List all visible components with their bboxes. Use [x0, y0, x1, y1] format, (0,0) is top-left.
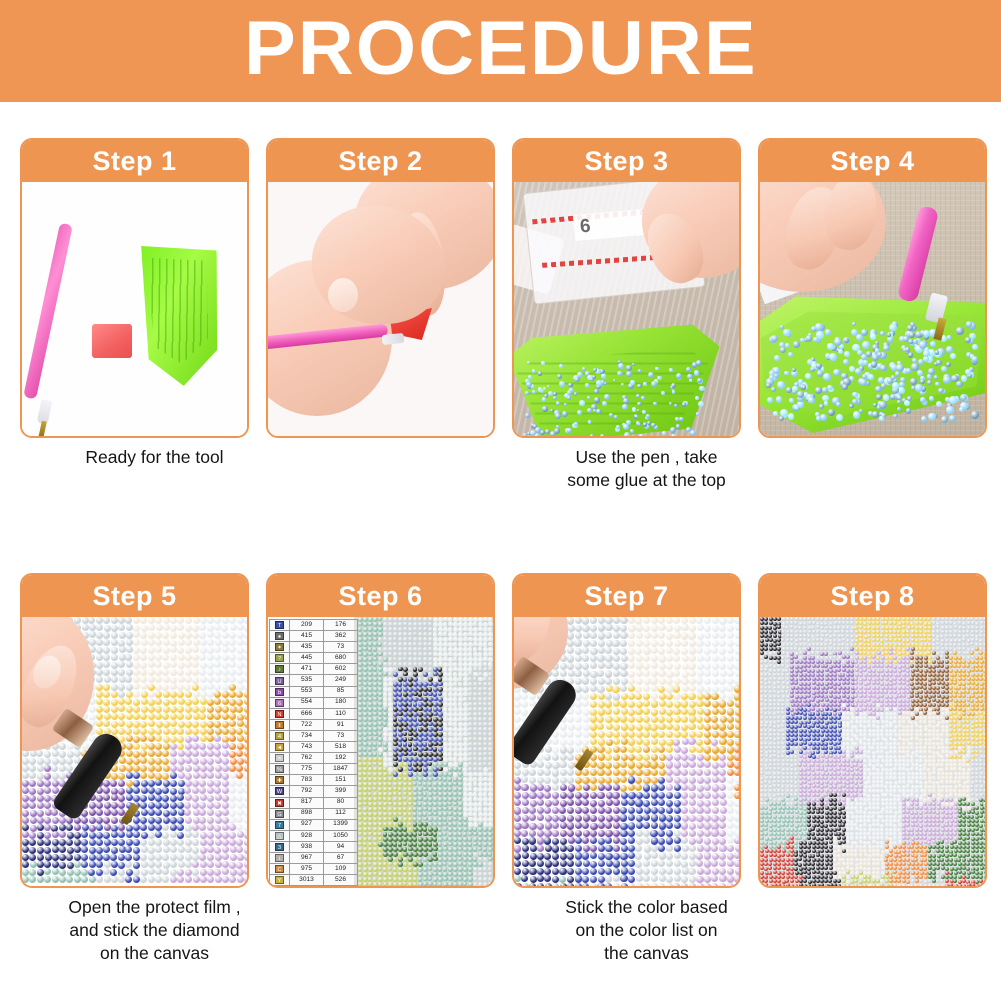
canvas-bead — [81, 854, 88, 861]
canvas-bead — [575, 807, 582, 814]
canvas-bead — [635, 754, 642, 761]
canvas-bead — [111, 713, 118, 720]
canvas-bead — [658, 838, 665, 845]
canvas-bead — [906, 634, 910, 638]
canvas-bead — [244, 632, 247, 639]
canvas-bead — [170, 713, 177, 720]
canvas-bead — [636, 670, 643, 677]
canvas-bead — [214, 743, 221, 750]
step-card-7[interactable]: Step 7 — [512, 573, 741, 888]
canvas-bead — [923, 634, 927, 638]
canvas-bead — [682, 671, 689, 678]
canvas-bead — [207, 824, 214, 831]
canvas-bead — [636, 868, 643, 875]
canvas-bead — [373, 787, 378, 792]
canvas-bead — [126, 765, 133, 772]
legend-row: ♪471602 — [270, 664, 358, 675]
diamond-bead — [785, 343, 790, 348]
canvas-bead — [207, 750, 214, 757]
canvas-bead — [463, 737, 468, 742]
canvas-bead — [177, 832, 184, 839]
canvas-bead — [140, 713, 147, 720]
legend-symbol-cell: % — [270, 764, 290, 775]
canvas-bead — [104, 713, 111, 720]
step-photo-5 — [22, 617, 247, 886]
canvas-bead — [133, 669, 140, 676]
canvas-bead — [177, 736, 184, 743]
canvas-bead — [889, 621, 893, 625]
canvas-bead — [222, 846, 229, 853]
canvas-bead — [111, 662, 118, 669]
canvas-bead — [696, 677, 703, 684]
canvas-bead — [103, 787, 110, 794]
canvas-bead — [635, 693, 642, 700]
canvas-bead — [29, 765, 36, 772]
canvas-bead — [363, 802, 368, 807]
canvas-bead — [529, 868, 536, 875]
canvas-bead — [983, 634, 985, 638]
canvas-bead — [59, 862, 66, 869]
canvas-bead — [605, 845, 612, 852]
canvas-bead — [696, 769, 703, 776]
canvas-bead — [214, 735, 221, 742]
canvas-bead — [884, 621, 888, 625]
step-caption-1: Ready for the tool — [32, 446, 277, 469]
legend-symbol-chip: T — [275, 621, 284, 629]
canvas-bead — [803, 630, 807, 634]
canvas-bead — [666, 746, 673, 753]
canvas-bead — [473, 617, 478, 622]
canvas-bead — [636, 678, 643, 685]
step-card-2[interactable]: Step 2 — [266, 138, 495, 438]
diamond-bead — [855, 368, 862, 375]
canvas-bead — [704, 738, 711, 745]
canvas-bead — [734, 617, 739, 624]
canvas-bead — [478, 872, 483, 877]
diamond-bead — [928, 413, 935, 420]
canvas-bead — [659, 868, 666, 875]
canvas-bead — [177, 617, 184, 624]
canvas-bead — [598, 693, 605, 700]
canvas-bead — [644, 845, 651, 852]
canvas-bead — [207, 676, 214, 683]
canvas-bead — [674, 716, 681, 723]
canvas-bead — [643, 625, 650, 632]
canvas-bead — [820, 617, 824, 621]
canvas-bead — [613, 670, 620, 677]
canvas-bead — [67, 869, 74, 876]
canvas-bead — [222, 824, 229, 831]
canvas-bead — [605, 754, 612, 761]
legend-row: 393894 — [270, 841, 358, 852]
diamond-bead — [941, 366, 947, 372]
canvas-bead — [636, 815, 643, 822]
canvas-bead — [545, 800, 552, 807]
canvas-bead — [67, 847, 74, 854]
canvas-bead — [514, 762, 521, 769]
diamond-bead — [860, 379, 867, 386]
canvas-bead — [598, 662, 605, 669]
canvas-bead — [52, 868, 59, 875]
canvas-bead — [237, 684, 244, 691]
canvas-bead — [711, 860, 718, 867]
canvas-bead — [658, 716, 665, 723]
diamond-bead — [643, 422, 647, 426]
canvas-bead — [207, 869, 214, 876]
canvas-bead — [162, 832, 169, 839]
canvas-bead — [644, 853, 651, 860]
canvas-bead — [712, 617, 719, 624]
diamond-bead — [838, 349, 843, 354]
canvas-bead — [388, 637, 393, 642]
canvas-bead — [689, 860, 696, 867]
canvas-bead — [560, 792, 567, 799]
canvas-bead — [373, 812, 378, 817]
canvas-bead — [689, 876, 696, 883]
canvas-bead — [651, 868, 658, 875]
canvas-bead — [413, 852, 418, 857]
canvas-bead — [636, 662, 643, 669]
canvas-bead — [704, 731, 711, 738]
canvas-bead — [483, 877, 488, 882]
step-card-8[interactable]: Step 8 — [758, 573, 987, 888]
canvas-bead — [383, 882, 388, 886]
canvas-bead — [368, 662, 373, 667]
diamond-bead — [893, 414, 897, 418]
canvas-bead — [448, 642, 453, 647]
canvas-bead — [448, 787, 453, 792]
canvas-bead — [582, 663, 589, 670]
canvas-bead — [863, 617, 867, 621]
canvas-bead — [393, 757, 398, 762]
diamond-bead — [836, 414, 843, 421]
canvas-bead — [126, 721, 133, 728]
canvas-bead — [697, 822, 704, 829]
canvas-bead — [735, 723, 739, 730]
canvas-bead — [133, 758, 140, 765]
canvas-bead — [44, 751, 51, 758]
canvas-bead — [696, 640, 703, 647]
canvas-bead — [620, 853, 627, 860]
canvas-bead — [192, 758, 199, 765]
canvas-bead — [244, 684, 247, 691]
canvas-bead — [125, 654, 132, 661]
canvas-bead — [244, 868, 247, 875]
canvas-bead — [413, 722, 418, 727]
canvas-bead — [215, 706, 222, 713]
canvas-bead — [388, 767, 393, 772]
legend-count-cell: 94 — [324, 841, 358, 852]
canvas-bead — [966, 634, 970, 638]
legend-symbol-chip: 3 — [275, 843, 284, 851]
canvas-bead — [803, 622, 807, 626]
canvas-bead — [230, 758, 237, 765]
canvas-bead — [363, 617, 368, 622]
legend-count-cell: 1050 — [324, 830, 358, 841]
canvas-bead — [170, 661, 177, 668]
canvas-bead — [133, 683, 140, 690]
canvas-bead — [620, 814, 627, 821]
legend-code-cell: 927 — [290, 819, 324, 830]
canvas-bead — [215, 772, 222, 779]
canvas-bead — [463, 697, 468, 702]
canvas-bead — [368, 862, 373, 867]
canvas-bead — [514, 792, 521, 799]
canvas-bead — [635, 769, 642, 776]
canvas-bead — [103, 854, 110, 861]
canvas-bead — [448, 652, 453, 657]
canvas-bead — [148, 676, 155, 683]
canvas-bead — [468, 652, 473, 657]
canvas-bead — [552, 799, 559, 806]
diamond-bead — [815, 323, 823, 331]
canvas-bead — [673, 632, 680, 639]
canvas-bead — [207, 706, 214, 713]
canvas-bead — [575, 860, 582, 867]
canvas-bead — [544, 785, 551, 792]
canvas-bead — [373, 867, 378, 872]
canvas-bead — [200, 772, 207, 779]
diamond-bead — [636, 394, 640, 398]
diamond-bead — [601, 373, 606, 378]
legend-symbol-chip: W — [275, 787, 284, 795]
canvas-bead — [488, 682, 493, 687]
legend-and-canvas: T209176●415362✶43573?445680♪471602U53524… — [268, 617, 493, 886]
canvas-bead — [200, 721, 207, 728]
canvas-bead — [681, 792, 688, 799]
step-card-6[interactable]: Step 6 T209176●415362✶43573?445680♪47160… — [266, 573, 495, 888]
canvas-bead — [207, 713, 214, 720]
canvas-bead — [207, 802, 214, 809]
canvas-bead — [199, 802, 206, 809]
canvas-bead — [82, 824, 89, 831]
canvas-bead — [605, 769, 612, 776]
canvas-bead — [52, 750, 59, 757]
canvas-bead — [378, 722, 383, 727]
canvas-bead — [590, 617, 597, 624]
step-label-1: Step 1 — [92, 148, 176, 175]
canvas-bead — [658, 799, 665, 806]
canvas-bead — [453, 822, 458, 827]
canvas-bead — [237, 677, 244, 684]
canvas-bead — [651, 822, 658, 829]
canvas-bead — [163, 647, 170, 654]
diamond-bead — [525, 413, 530, 418]
canvas-bead — [207, 795, 214, 802]
diamond-bead — [825, 329, 831, 335]
canvas-bead — [681, 747, 688, 754]
canvas-bead — [613, 837, 620, 844]
canvas-bead — [89, 706, 96, 713]
canvas-bead — [162, 632, 169, 639]
canvas-bead — [140, 802, 147, 809]
canvas-bead — [598, 876, 605, 883]
diamond-bead — [567, 390, 572, 395]
canvas-bead — [52, 854, 59, 861]
canvas-bead — [575, 663, 582, 670]
canvas-bead — [177, 647, 184, 654]
canvas-bead — [148, 839, 155, 846]
canvas-bead — [590, 807, 597, 814]
canvas-bead — [483, 692, 488, 697]
canvas-bead — [574, 670, 581, 677]
canvas-bead — [514, 815, 521, 822]
canvas-bead — [521, 875, 528, 882]
canvas-bead — [222, 742, 229, 749]
canvas-bead — [403, 682, 408, 687]
canvas-bead — [612, 686, 619, 693]
step-card-3[interactable]: Step 3 6 — [512, 138, 741, 438]
canvas-bead — [651, 738, 658, 745]
canvas-bead — [66, 854, 73, 861]
canvas-bead — [552, 860, 559, 867]
canvas-bead — [443, 882, 448, 886]
canvas-bead — [403, 632, 408, 637]
canvas-bead — [583, 670, 590, 677]
canvas-bead — [711, 875, 718, 882]
canvas-bead — [514, 708, 521, 715]
canvas-bead — [244, 736, 247, 743]
canvas-bead — [620, 700, 627, 707]
canvas-bead — [643, 655, 650, 662]
canvas-bead — [643, 640, 650, 647]
canvas-bead — [393, 732, 398, 737]
legend-symbol-cell: 7 — [270, 819, 290, 830]
canvas-bead — [51, 809, 58, 816]
canvas-bead — [207, 631, 214, 638]
canvas-bead — [673, 769, 680, 776]
canvas-bead — [74, 861, 81, 868]
canvas-bead — [643, 685, 650, 692]
canvas-bead — [140, 735, 147, 742]
canvas-bead — [628, 724, 635, 731]
canvas-bead — [651, 700, 658, 707]
canvas-bead — [244, 691, 247, 698]
canvas-bead — [529, 883, 536, 886]
canvas-bead — [133, 639, 140, 646]
canvas-bead — [483, 632, 488, 637]
canvas-bead — [643, 663, 650, 670]
canvas-bead — [244, 706, 247, 713]
step-card-5[interactable]: Step 5 — [20, 573, 249, 888]
canvas-bead — [184, 809, 191, 816]
canvas-bead — [453, 817, 458, 822]
canvas-bead — [970, 617, 974, 621]
canvas-bead — [488, 717, 493, 722]
canvas-bead — [719, 678, 726, 685]
canvas-bead — [383, 627, 388, 632]
legend-symbol-cell: Y — [270, 875, 290, 886]
canvas-bead — [140, 721, 147, 728]
canvas-bead — [433, 637, 438, 642]
canvas-bead — [478, 797, 483, 802]
canvas-bead — [597, 762, 604, 769]
canvas-bead — [140, 817, 147, 824]
canvas-bead — [681, 617, 688, 624]
diamond-bead — [767, 397, 773, 403]
canvas-bead — [22, 772, 29, 779]
canvas-bead — [559, 876, 566, 883]
canvas-bead — [537, 883, 544, 886]
diamond-bead — [870, 333, 877, 340]
canvas-bead — [590, 715, 597, 722]
canvas-bead — [689, 799, 696, 806]
canvas-bead — [478, 837, 483, 842]
canvas-bead — [940, 635, 944, 639]
canvas-bead — [613, 883, 620, 886]
legend-count-cell: 249 — [324, 675, 358, 686]
canvas-bead — [696, 647, 703, 654]
canvas-bead — [413, 807, 418, 812]
diamond-bead — [641, 396, 645, 400]
canvas-bead — [697, 633, 704, 640]
step-card-header-2: Step 2 — [268, 140, 493, 182]
canvas-bead — [613, 716, 620, 723]
legend-symbol-chip: ✖ — [275, 799, 284, 807]
diamond-bead — [827, 385, 833, 391]
canvas-bead — [820, 638, 824, 642]
canvas-bead — [689, 792, 696, 799]
canvas-bead — [237, 647, 244, 654]
canvas-bead — [368, 772, 373, 777]
canvas-bead — [418, 697, 423, 702]
canvas-bead — [628, 868, 635, 875]
canvas-bead — [81, 839, 88, 846]
canvas-bead — [236, 699, 243, 706]
canvas-bead — [867, 634, 871, 638]
canvas-bead — [207, 669, 214, 676]
step-card-1[interactable]: Step 1 — [20, 138, 249, 438]
canvas-bead — [103, 632, 110, 639]
canvas-bead — [52, 817, 59, 824]
canvas-bead — [378, 877, 383, 882]
canvas-bead — [867, 630, 871, 634]
canvas-bead — [133, 654, 140, 661]
step-card-4[interactable]: Step 4 — [758, 138, 987, 438]
canvas-bead — [544, 837, 551, 844]
canvas-bead — [727, 723, 734, 730]
canvas-bead — [192, 831, 199, 838]
canvas-bead — [628, 632, 635, 639]
canvas-bead — [155, 824, 162, 831]
canvas-bead — [214, 713, 221, 720]
canvas-bead — [643, 792, 650, 799]
diamond-bead — [907, 396, 912, 401]
canvas-bead — [636, 624, 643, 631]
step-card-header-4: Step 4 — [760, 140, 985, 182]
step-card-header-6: Step 6 — [268, 575, 493, 617]
canvas-bead — [29, 772, 36, 779]
canvas-bead — [104, 809, 111, 816]
canvas-bead — [192, 684, 199, 691]
canvas-bead — [681, 716, 688, 723]
canvas-bead — [651, 617, 658, 624]
canvas-bead — [140, 795, 147, 802]
canvas-bead — [170, 846, 177, 853]
canvas-bead — [185, 765, 192, 772]
canvas-bead — [185, 699, 192, 706]
canvas-bead — [628, 845, 635, 852]
canvas-bead — [613, 738, 620, 745]
canvas-bead — [666, 693, 673, 700]
canvas-bead — [207, 809, 214, 816]
canvas-bead — [66, 758, 73, 765]
canvas-bead — [428, 762, 433, 767]
canvas-bead — [398, 642, 403, 647]
canvas-bead — [458, 857, 463, 862]
canvas-bead — [825, 634, 829, 638]
canvas-bead — [582, 868, 589, 875]
